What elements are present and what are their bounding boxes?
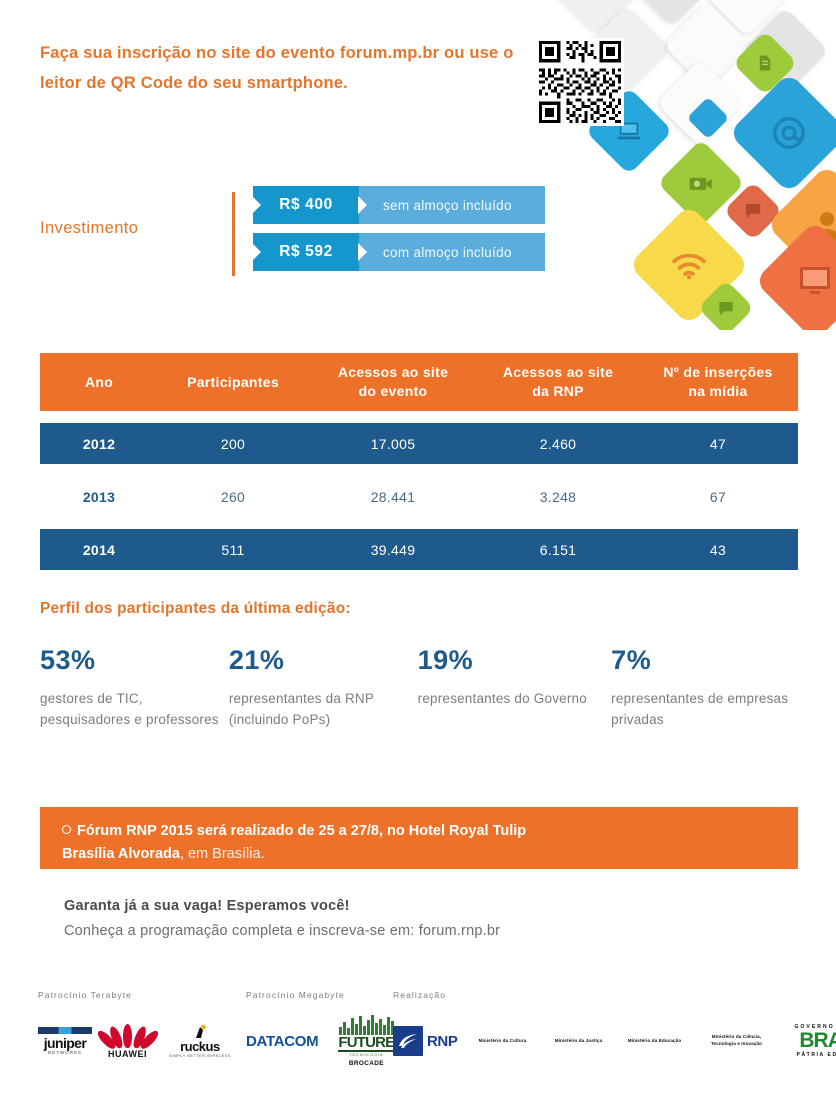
stat-item: 7% representantes de empresas privadas bbox=[611, 645, 800, 731]
table-cell-acessos-rnp: 2.460 bbox=[478, 423, 638, 464]
future-logo: FUTURE TECNOLOGIA BROCADE bbox=[338, 1015, 394, 1067]
stat-description: representantes da RNP (incluindo PoPs) bbox=[229, 689, 418, 731]
cta-line-1: Garanta já a sua vaga! Esperamos você! bbox=[64, 898, 500, 914]
price-value: R$ 400 bbox=[279, 196, 333, 214]
ministerio-justica-logo: Ministério da Justiça bbox=[547, 1038, 609, 1045]
table-header-cell: Ano bbox=[40, 353, 158, 411]
stat-description: gestores de TIC, pesquisadores e profess… bbox=[40, 689, 229, 731]
price-chip[interactable]: R$ 400 bbox=[253, 186, 359, 224]
table-cell-year: 2014 bbox=[40, 529, 158, 570]
brocade-wordmark: BROCADE bbox=[349, 1060, 384, 1067]
price-description: sem almoço incluído bbox=[383, 198, 512, 213]
header-label: Participantes bbox=[187, 373, 279, 392]
price-description-chip: com almoço incluído bbox=[359, 233, 545, 271]
ruckus-figure-icon bbox=[192, 1024, 208, 1040]
chat-icon bbox=[744, 203, 762, 219]
header-label-line2: na mídia bbox=[688, 383, 747, 399]
rnp-logo: RNP bbox=[393, 1026, 457, 1056]
rnp-wordmark: RNP bbox=[427, 1033, 457, 1050]
chat-bubble-icon bbox=[718, 301, 735, 316]
price-description-chip: sem almoço incluído bbox=[359, 186, 545, 224]
datacom-logo: DATACOM bbox=[246, 1033, 318, 1050]
brasil-text: BRASIL bbox=[799, 1029, 836, 1052]
stat-item: 19% representantes do Governo bbox=[418, 645, 612, 731]
screen-icon bbox=[798, 266, 832, 296]
header-label: Acessos ao site bbox=[503, 364, 613, 380]
bullet-icon bbox=[62, 825, 71, 834]
decor-tile-white bbox=[656, 59, 744, 147]
sponsor-group-label: Realização bbox=[393, 990, 836, 1000]
investment-row: R$ 400 sem almoço incluído bbox=[253, 186, 545, 224]
ruckus-logo: ruckus SIMPLY BETTER WIRELESS bbox=[169, 1024, 231, 1058]
future-subtext: TECNOLOGIA bbox=[349, 1052, 383, 1057]
header-label: Acessos ao site bbox=[338, 364, 448, 380]
decor-tile-grey bbox=[553, 0, 641, 35]
decor-tile-grey bbox=[628, 0, 716, 27]
table-cell-acessos-rnp: 3.248 bbox=[478, 476, 638, 517]
juniper-bar bbox=[38, 1027, 92, 1034]
table-header-cell: Acessos ao site do evento bbox=[308, 353, 478, 411]
header-label-line2: do evento bbox=[359, 383, 428, 399]
rnp-mark-icon bbox=[393, 1026, 423, 1056]
price-description: com almoço incluído bbox=[383, 245, 512, 260]
document-icon bbox=[756, 54, 774, 72]
notch-icon bbox=[358, 243, 367, 261]
stat-item: 21% representantes da RNP (incluindo PoP… bbox=[229, 645, 418, 731]
huawei-wordmark: HUAWEI bbox=[108, 1049, 147, 1059]
table-cell-acessos-evento: 17.005 bbox=[308, 423, 478, 464]
sponsor-group-terabyte: Patrocínio Terabyte juniper NETWORKS HUA… bbox=[38, 990, 231, 1066]
banner-bold-2: Brasília Alvorada bbox=[62, 846, 180, 862]
table-gap bbox=[40, 464, 798, 476]
decor-tile-at bbox=[728, 72, 836, 194]
juniper-wordmark: juniper bbox=[44, 1036, 86, 1050]
future-bars-icon bbox=[339, 1015, 394, 1035]
table-cell-participantes: 511 bbox=[158, 529, 308, 570]
table-cell-participantes: 260 bbox=[158, 476, 308, 517]
sponsor-group-label: Patrocínio Megabyte bbox=[246, 990, 394, 1000]
stat-percentage: 7% bbox=[611, 645, 800, 676]
decor-tile-small-blue bbox=[687, 97, 729, 139]
decor-tile-white bbox=[663, 1, 751, 89]
table-cell-insercoes: 43 bbox=[638, 529, 798, 570]
stat-description: representantes de empresas privadas bbox=[611, 689, 800, 731]
header-label: Nº de inserções bbox=[663, 364, 772, 380]
decor-tile-wifi bbox=[628, 204, 750, 326]
table-cell-insercoes: 67 bbox=[638, 476, 798, 517]
governo-federal-logo: GOVERNO FEDERAL BRASIL PÁTRIA EDUCADORA bbox=[787, 1024, 836, 1058]
investment-row: R$ 592 com almoço incluído bbox=[253, 233, 545, 271]
decor-tile-person bbox=[766, 164, 836, 286]
ministerio-cultura-logo: Ministério da Cultura bbox=[471, 1038, 533, 1045]
profile-stats: 53% gestores de TIC, pesquisadores e pro… bbox=[40, 645, 800, 731]
rnp-swoosh-icon bbox=[397, 1032, 419, 1050]
notch-icon bbox=[252, 196, 261, 214]
governo-federal-bottom: PÁTRIA EDUCADORA bbox=[787, 1052, 836, 1058]
table-row: 2013 260 28.441 3.248 67 bbox=[40, 476, 798, 517]
ruckus-subtext: SIMPLY BETTER WIRELESS bbox=[169, 1053, 231, 1058]
wifi-icon bbox=[670, 251, 708, 279]
notch-icon bbox=[252, 243, 261, 261]
table-cell-acessos-rnp: 6.151 bbox=[478, 529, 638, 570]
table-cell-year: 2013 bbox=[40, 476, 158, 517]
decor-tile-grey bbox=[741, 7, 829, 95]
table-header-cell: Acessos ao site da RNP bbox=[478, 353, 638, 411]
decor-tile-camera bbox=[657, 139, 745, 227]
header-label-line2: da RNP bbox=[532, 383, 584, 399]
stat-description: representantes do Governo bbox=[418, 689, 612, 710]
decor-tile-white bbox=[703, 0, 791, 37]
decor-tile-chat bbox=[723, 181, 782, 240]
banner-tail: , em Brasília. bbox=[180, 846, 265, 862]
table-gap bbox=[40, 411, 798, 423]
ministerio-educacao-logo: Ministério da Educação bbox=[623, 1038, 685, 1045]
table-cell-acessos-evento: 39.449 bbox=[308, 529, 478, 570]
table-row: 2012 200 17.005 2.460 47 bbox=[40, 423, 798, 464]
stat-item: 53% gestores de TIC, pesquisadores e pro… bbox=[40, 645, 229, 731]
price-chip[interactable]: R$ 592 bbox=[253, 233, 359, 271]
table-cell-insercoes: 47 bbox=[638, 423, 798, 464]
stat-percentage: 19% bbox=[418, 645, 612, 676]
investment-divider bbox=[232, 192, 235, 276]
price-value: R$ 592 bbox=[279, 243, 333, 261]
brasil-wordmark: BRASIL bbox=[787, 1030, 836, 1051]
header-label: Ano bbox=[85, 373, 113, 392]
at-icon bbox=[769, 113, 809, 153]
future-wordmark: FUTURE bbox=[338, 1035, 394, 1052]
statistics-table: Ano Participantes Acessos ao site do eve… bbox=[40, 353, 798, 570]
investment-section: Investimento R$ 400 sem almoço incluído … bbox=[40, 186, 560, 282]
table-cell-year: 2012 bbox=[40, 423, 158, 464]
banner-bold-1: Fórum RNP 2015 será realizado de 25 a 27… bbox=[77, 823, 526, 839]
table-header-row: Ano Participantes Acessos ao site do eve… bbox=[40, 353, 798, 411]
decor-tile-chat-small bbox=[698, 280, 755, 330]
juniper-logo: juniper NETWORKS bbox=[38, 1027, 92, 1055]
sponsor-group-megabyte: Patrocínio Megabyte DATACOM FUTURE TECNO… bbox=[246, 990, 394, 1066]
cta-line-2: Conheça a programação completa e inscrev… bbox=[64, 923, 500, 939]
decor-tile-screen bbox=[754, 220, 836, 330]
ruckus-wordmark: ruckus bbox=[180, 1040, 220, 1053]
stat-percentage: 21% bbox=[229, 645, 418, 676]
huawei-petals-icon bbox=[110, 1024, 146, 1048]
event-banner: Fórum RNP 2015 será realizado de 25 a 27… bbox=[40, 807, 798, 869]
juniper-subtext: NETWORKS bbox=[48, 1050, 82, 1055]
qr-code[interactable] bbox=[536, 38, 624, 126]
headline-text: Faça sua inscrição no site do evento for… bbox=[40, 38, 520, 98]
sponsor-group-realizacao: Realização RNP Ministério da Cultura Min… bbox=[393, 990, 836, 1066]
table-header-cell: Nº de inserções na mídia bbox=[638, 353, 798, 411]
investment-label: Investimento bbox=[40, 219, 138, 238]
table-cell-participantes: 200 bbox=[158, 423, 308, 464]
huawei-logo: HUAWEI bbox=[108, 1024, 147, 1059]
person-icon bbox=[810, 208, 836, 242]
ministerio-ciencia-logo: Ministério da Ciência, Tecnologia e Inov… bbox=[699, 1034, 773, 1047]
camera-icon bbox=[689, 174, 713, 193]
table-gap bbox=[40, 517, 798, 529]
table-cell-acessos-evento: 28.441 bbox=[308, 476, 478, 517]
table-row: 2014 511 39.449 6.151 43 bbox=[40, 529, 798, 570]
table-header-cell: Participantes bbox=[158, 353, 308, 411]
notch-icon bbox=[358, 196, 367, 214]
stat-percentage: 53% bbox=[40, 645, 229, 676]
profile-title: Perfil dos participantes da última ediçã… bbox=[40, 600, 351, 618]
call-to-action: Garanta já a sua vaga! Esperamos você! C… bbox=[64, 898, 500, 939]
sponsor-group-label: Patrocínio Terabyte bbox=[38, 990, 231, 1000]
decor-tile-document bbox=[732, 30, 797, 95]
